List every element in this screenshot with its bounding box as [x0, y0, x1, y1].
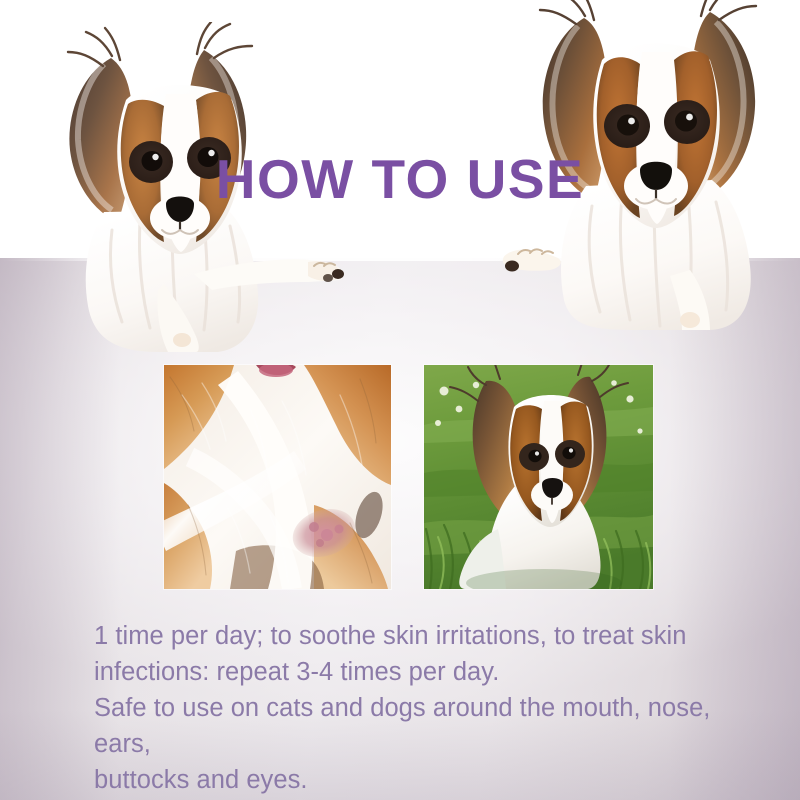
instructions-line-3: Safe to use on cats and dogs around the … — [94, 690, 734, 762]
page-title: HOW TO USE — [0, 148, 800, 210]
instructions-text: 1 time per day; to soothe skin irritatio… — [94, 618, 734, 798]
papillon-in-grass-photo — [424, 365, 653, 589]
how-to-use-poster: HOW TO USE — [0, 0, 800, 800]
instructions-line-1: 1 time per day; to soothe skin irritatio… — [94, 618, 734, 654]
fur-closeup-photo — [164, 365, 391, 589]
instructions-line-4: buttocks and eyes. — [94, 762, 734, 798]
instructions-line-2: infections: repeat 3-4 times per day. — [94, 654, 734, 690]
